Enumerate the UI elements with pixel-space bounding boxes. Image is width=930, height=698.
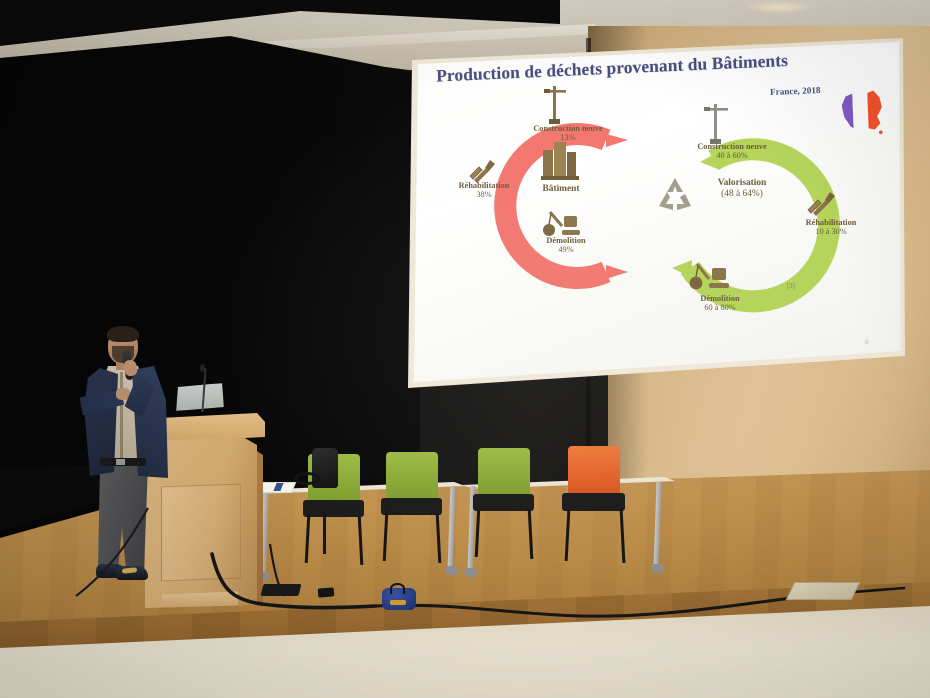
stage-cable-left	[30, 500, 160, 610]
chair-2-back	[386, 452, 438, 500]
coiled-cable	[294, 472, 320, 485]
right-node-rehabilitation: Réhabilitation 10 à 30%	[788, 218, 874, 237]
slide-subtitle: France, 2018	[770, 85, 821, 97]
chair-4-seat	[562, 493, 625, 511]
slide-page-number: 8	[865, 338, 869, 346]
presenter-hand-left	[116, 388, 130, 400]
lecture-hall-photo: Production de déchets provenant du Bâtim…	[0, 0, 930, 698]
recycling-icon	[655, 176, 695, 214]
citation-marker: [3]	[787, 283, 795, 290]
chair-1-seat	[303, 500, 364, 517]
floor-cable-plate	[786, 582, 861, 600]
chair-3-back	[478, 448, 530, 496]
belt-buckle	[116, 459, 125, 465]
buildings-icon	[539, 138, 581, 182]
right-node-demolition: Démolition 60 à 80%	[674, 294, 766, 313]
left-node-construction: Construction neuve 13%	[522, 124, 614, 143]
presenter-hair	[107, 326, 139, 342]
chair-4-back	[568, 446, 620, 496]
chair-2-seat	[381, 498, 442, 515]
ceiling-spot-light	[744, 0, 814, 14]
projected-slide: Production de déchets provenant du Bâtim…	[402, 38, 907, 388]
gooseneck-microphone-head	[200, 364, 205, 372]
power-strip	[261, 584, 302, 596]
right-cycle-center-label: Valorisation (48 à 64%)	[696, 178, 788, 199]
cable-connector	[318, 587, 335, 597]
left-cycle-center-label: Bâtiment	[535, 184, 587, 194]
crane-icon	[702, 104, 730, 146]
left-node-demolition: Démolition 49%	[520, 236, 612, 255]
wrench-screwdriver-icon	[806, 190, 838, 218]
cable-reel-handle	[390, 583, 405, 594]
crane-icon	[542, 86, 568, 126]
left-node-rehabilitation: Réhabilitation 38%	[442, 181, 526, 200]
shirt-placket	[120, 372, 123, 458]
cable-reel-label	[390, 600, 406, 605]
excavator-wrecking-ball-icon	[688, 260, 732, 294]
chair-3-seat	[473, 494, 534, 511]
right-node-construction: Construction neuve 40 à 60%	[684, 142, 780, 161]
